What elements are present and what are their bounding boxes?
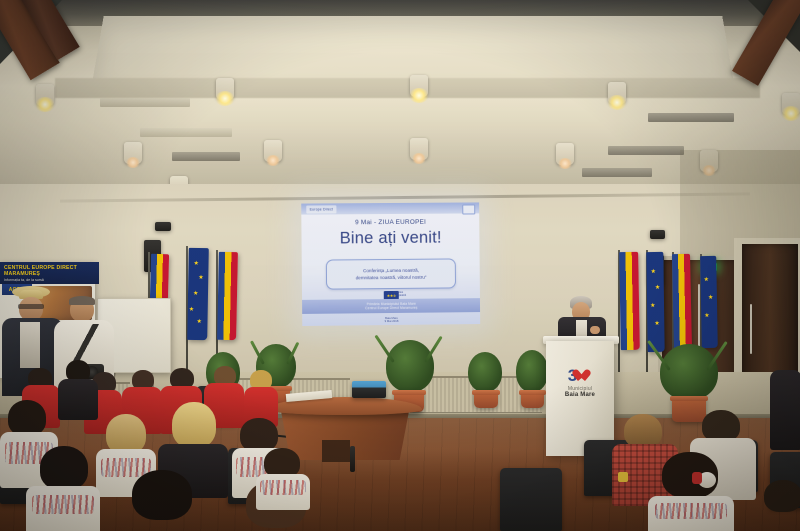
slide-foot-line2: 9 Mai 2018 — [302, 319, 480, 325]
flag-eu-right-inner: ★★ ★★ — [646, 252, 664, 352]
ceiling-lamp — [264, 140, 282, 162]
traditional-blouse — [26, 486, 100, 531]
ceiling-lamp — [556, 143, 574, 165]
wall-speaker — [155, 222, 171, 231]
chair[interactable] — [500, 468, 562, 531]
desk-opening — [322, 440, 350, 462]
hair — [40, 446, 88, 490]
hat-man-shirt — [20, 322, 40, 368]
ceiling-drop-panel — [92, 16, 734, 83]
presentation-slide: Europe Direct 9 Mai - ZIUA EUROPEI Bine … — [301, 202, 480, 326]
dark-jacket — [58, 379, 98, 420]
audience-member — [256, 448, 312, 508]
audience-member-foreground — [116, 470, 206, 531]
audience-member — [58, 360, 98, 420]
ceiling-lamp — [36, 84, 54, 106]
ceiling-vent-grille — [172, 152, 240, 161]
banner-headline-bar: CENTRUL EUROPE DIRECT MARAMUREȘ Informaț… — [0, 262, 99, 284]
ceiling-vent-grille — [100, 98, 190, 107]
floor-microphone — [350, 446, 355, 472]
wall-speaker — [650, 230, 665, 239]
eu-stars: ★★ ★★ ★ — [187, 248, 209, 340]
ceiling-vent-grille — [582, 168, 652, 177]
photographer-hair — [69, 296, 95, 305]
door-handle[interactable] — [750, 304, 752, 354]
flag-romania-right-inner — [672, 254, 692, 350]
audience-member — [770, 370, 800, 450]
hair-blonde — [172, 402, 216, 448]
hair — [132, 470, 192, 520]
eu-logo-caption: Uniunea Europeană — [393, 291, 411, 297]
glasses-icon — [18, 304, 44, 309]
eu-stars: ★★ ★★ — [646, 252, 664, 352]
podium: 3 Municipiul Baia Mare — [546, 341, 614, 456]
slide-title: Bine ați venit! — [301, 228, 479, 248]
slide-foot: Baia Mare 9 Mai 2018 — [302, 316, 480, 325]
eu-stars: ★★ ★ — [700, 256, 718, 348]
presenter-hand — [590, 326, 600, 334]
banner-headline: CENTRUL EUROPE DIRECT MARAMUREȘ — [4, 265, 99, 277]
audience-child-foreground — [648, 452, 734, 531]
flag-romania-left-inner — [217, 252, 238, 340]
audience-member-foreground — [26, 446, 100, 531]
flag-romania-right — [619, 252, 640, 350]
ceiling-lamp — [608, 82, 626, 104]
slide-subtitle-box: Conferința „Lumea noastră, demnitatea no… — [326, 258, 456, 289]
logo-mark: 3 — [546, 367, 614, 384]
shirt-emblem — [618, 472, 628, 482]
ceiling-lamp — [216, 78, 234, 100]
projection-screen: Europe Direct 9 Mai - ZIUA EUROPEI Bine … — [301, 202, 480, 326]
slide-subtitle-line2: demnitatea noastră, viitorul nostru" — [356, 274, 427, 282]
plant-foliage — [468, 352, 502, 392]
hair — [8, 400, 46, 436]
flag-eu-right-outer: ★★ ★ — [700, 256, 718, 348]
ceiling-soffit — [55, 78, 760, 98]
ceiling-vent-grille — [648, 113, 734, 122]
heart-icon — [578, 369, 592, 382]
traditional-blouse — [256, 474, 310, 510]
plant-pot — [474, 390, 498, 408]
plant-foliage — [516, 350, 548, 392]
ceiling-lamp — [124, 142, 142, 164]
plant-foliage — [660, 344, 718, 400]
hair-ribbon — [692, 472, 702, 484]
plant-pot — [521, 390, 544, 408]
hair — [624, 414, 662, 448]
ceiling-vent-grille — [608, 146, 684, 155]
slide-corner-logo — [462, 204, 475, 214]
dark-jacket — [770, 370, 800, 450]
ceiling-vent-grille — [140, 128, 232, 137]
slide-kicker: 9 Mai - ZIUA EUROPEI — [301, 218, 479, 226]
projector — [352, 381, 386, 398]
flag-eu-left: ★★ ★★ ★ — [187, 248, 209, 340]
audience-child-foreground — [760, 480, 800, 531]
hair — [764, 480, 800, 512]
europe-direct-logo: Europe Direct — [306, 205, 336, 213]
ceiling-lamp — [782, 93, 800, 115]
hair — [240, 418, 278, 452]
podium-logo-line2: Baia Mare — [546, 392, 614, 398]
slide-subtitle-text: Conferința „Lumea noastră, demnitatea no… — [351, 267, 432, 282]
traditional-blouse — [648, 496, 734, 531]
ceiling-lamp — [410, 75, 428, 97]
hair-blonde — [106, 414, 146, 454]
podium-logo: 3 Municipiul Baia Mare — [546, 367, 614, 398]
banner-subline: Informația ta, de la sursă — [4, 278, 99, 282]
photo-scene: EXIT .exit-sign{left:703px;top:263px;} E… — [0, 0, 800, 531]
slide-footer-band: Primăria Municipiului Baia Mare Centrul … — [302, 298, 480, 314]
slide-band-line2: Centrul Europe Direct Maramureș — [365, 306, 417, 311]
ceiling-lamp — [410, 138, 428, 160]
plant-foliage — [386, 340, 434, 392]
